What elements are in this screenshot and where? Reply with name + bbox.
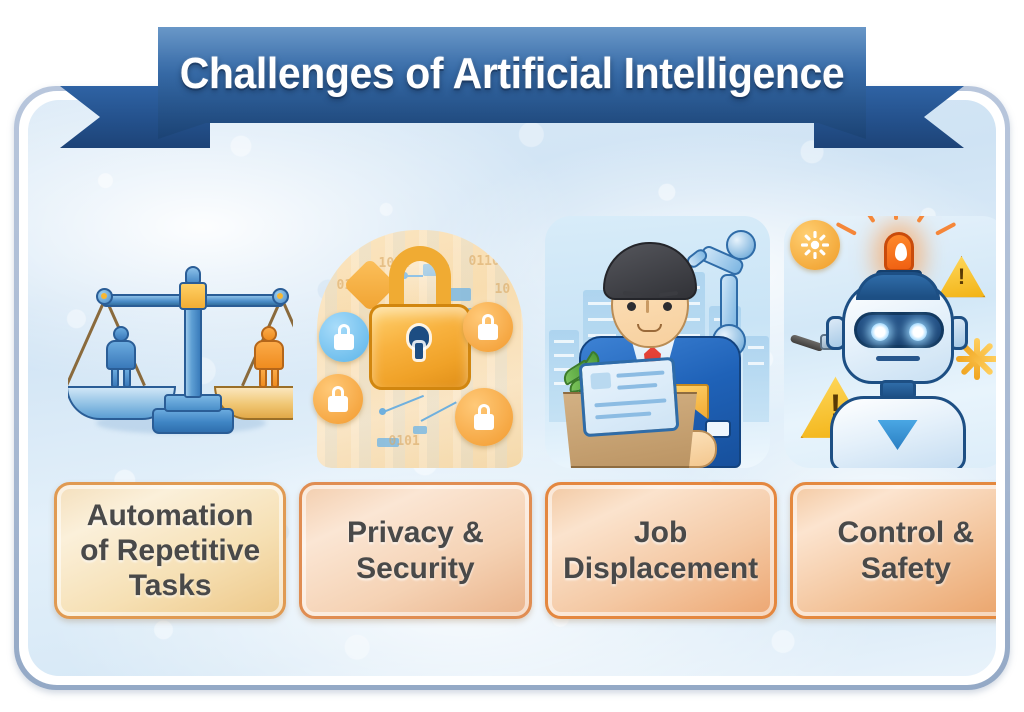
robot-eye-left: [871, 323, 889, 341]
padlock-shackle: [389, 246, 451, 310]
lock-badge-orange-icon: [455, 388, 513, 446]
tablet-icon: [579, 357, 680, 438]
scale-knob-right: [272, 288, 289, 305]
lock-badge-blue-icon: [319, 312, 369, 362]
large-padlock-icon: [369, 280, 471, 390]
label-text-control-safety: Control & Safety: [805, 515, 996, 585]
alarm-light-icon: [884, 232, 914, 272]
title-banner: Challenges of Artificial Intelligence: [60, 22, 964, 152]
panel-automation-illustration: [68, 216, 293, 468]
hair: [603, 242, 697, 300]
gear-badge-icon: [790, 220, 840, 270]
card-inner-background: 01 1011 0110 10 0101: [28, 100, 996, 676]
orange-human-figure-icon: [254, 326, 284, 388]
label-text-privacy: Privacy & Security: [314, 515, 516, 585]
sad-businessman-icon: [573, 242, 745, 468]
panel-control-safety-illustration: ! !: [784, 216, 997, 468]
scale-column: [184, 298, 202, 398]
label-box-control-safety[interactable]: Control & Safety: [790, 482, 996, 619]
label-text-automation: Automation of Repetitive Tasks: [69, 498, 271, 603]
panel-privacy-illustration: 01 1011 0110 10 0101: [307, 216, 532, 468]
label-box-automation[interactable]: Automation of Repetitive Tasks: [54, 482, 286, 619]
robot-icon: [824, 268, 970, 468]
lock-badge-orange-icon: [463, 302, 513, 352]
robot-visor: [854, 312, 944, 348]
robot-eye-right: [909, 323, 927, 341]
robot-mouth: [876, 356, 920, 361]
illustration-row: 01 1011 0110 10 0101: [68, 216, 996, 468]
card-white-ring: 01 1011 0110 10 0101: [19, 91, 1005, 685]
padlock-keyhole: [409, 326, 429, 348]
scale-hub: [179, 282, 207, 310]
scale-string: [68, 297, 106, 386]
label-text-job-displacement: Job Displacement: [560, 515, 762, 585]
robot-cap: [856, 272, 940, 300]
balance-scale-icon: [80, 236, 292, 446]
label-box-job-displacement[interactable]: Job Displacement: [545, 482, 777, 619]
panel-job-displacement-illustration: [545, 216, 770, 468]
infographic-canvas: 01 1011 0110 10 0101: [0, 0, 1024, 712]
scale-finial: [185, 266, 201, 284]
label-row: Automation of Repetitive Tasks Privacy &…: [54, 482, 996, 622]
blue-human-figure-icon: [106, 326, 136, 388]
page-title: Challenges of Artificial Intelligence: [92, 49, 933, 99]
label-box-privacy[interactable]: Privacy & Security: [299, 482, 531, 619]
scale-knob-left: [96, 288, 113, 305]
infographic-card: 01 1011 0110 10 0101: [14, 86, 1010, 690]
lock-badge-orange-icon: [313, 374, 363, 424]
